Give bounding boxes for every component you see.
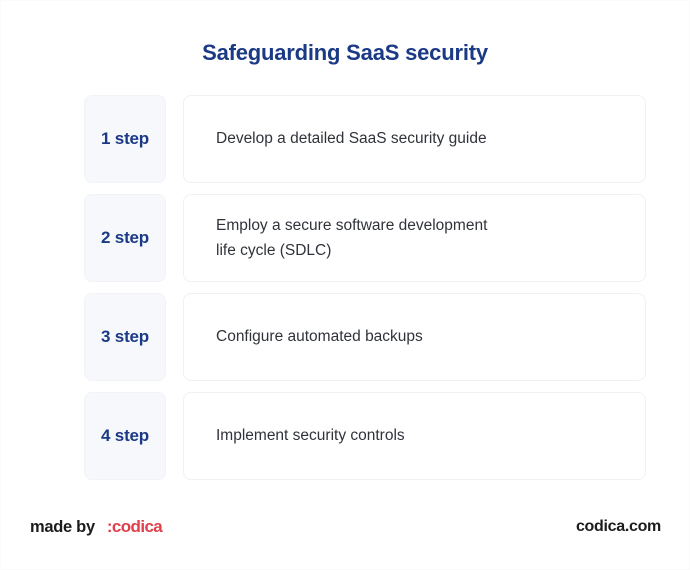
step-card-text: Employ a secure software development lif…: [216, 213, 487, 263]
made-by-label: made by: [30, 518, 95, 537]
step-badge-2: 2 step: [84, 194, 166, 282]
made-by-credit: made by :codica: [30, 517, 162, 537]
step-card-2: Employ a secure software development lif…: [183, 194, 646, 282]
step-badge-label: 4 step: [101, 426, 149, 446]
step-card-text: Develop a detailed SaaS security guide: [216, 126, 487, 151]
list-item: 4 step Implement security controls: [84, 392, 646, 480]
list-item: 3 step Configure automated backups: [84, 293, 646, 381]
codica-logo: :codica: [107, 517, 162, 537]
step-card-1: Develop a detailed SaaS security guide: [183, 95, 646, 183]
step-badge-label: 2 step: [101, 228, 149, 248]
footer: made by :codica codica.com: [0, 512, 690, 542]
step-card-text: Configure automated backups: [216, 324, 423, 349]
step-badge-3: 3 step: [84, 293, 166, 381]
infographic-slide: Safeguarding SaaS security 1 step Develo…: [0, 0, 690, 570]
list-item: 2 step Employ a secure software developm…: [84, 194, 646, 282]
step-card-3: Configure automated backups: [183, 293, 646, 381]
step-card-text: Implement security controls: [216, 423, 405, 448]
step-badge-1: 1 step: [84, 95, 166, 183]
steps-list: 1 step Develop a detailed SaaS security …: [84, 95, 646, 480]
step-badge-4: 4 step: [84, 392, 166, 480]
page-title: Safeguarding SaaS security: [0, 40, 690, 66]
step-card-4: Implement security controls: [183, 392, 646, 480]
list-item: 1 step Develop a detailed SaaS security …: [84, 95, 646, 183]
step-badge-label: 3 step: [101, 327, 149, 347]
site-url: codica.com: [576, 518, 661, 536]
step-badge-label: 1 step: [101, 129, 149, 149]
